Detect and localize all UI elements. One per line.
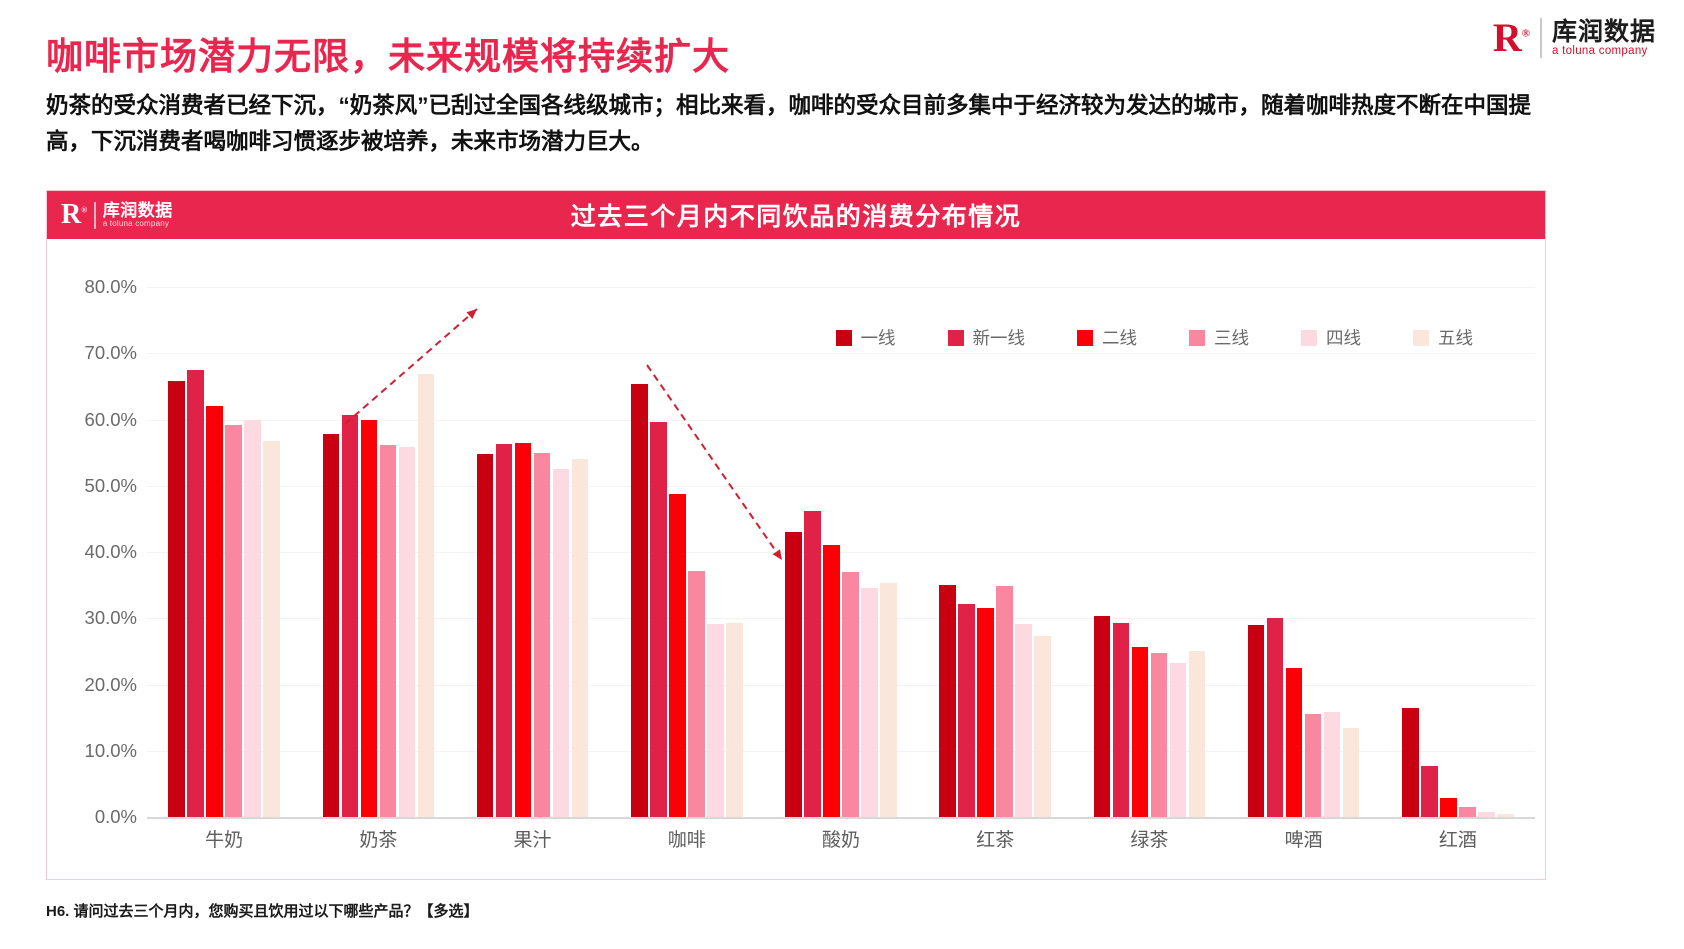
bar[interactable]: [823, 545, 840, 817]
bar[interactable]: [1248, 625, 1265, 817]
x-axis-label: 酸奶: [764, 825, 918, 852]
bar-group-红茶: [918, 287, 1072, 817]
bar[interactable]: [1151, 653, 1168, 817]
bar[interactable]: [669, 494, 686, 817]
y-axis: 80.0%70.0%60.0%50.0%40.0%30.0%20.0%10.0%…: [47, 287, 147, 817]
bar[interactable]: [1497, 814, 1514, 817]
x-axis-label: 牛奶: [147, 825, 301, 852]
bar-group-啤酒: [1227, 287, 1381, 817]
bar[interactable]: [1170, 663, 1187, 817]
bar[interactable]: [842, 572, 859, 817]
bar-group-奶茶: [301, 287, 455, 817]
x-axis-label: 绿茶: [1072, 825, 1226, 852]
y-axis-tick: 60.0%: [85, 409, 137, 431]
x-axis-label: 啤酒: [1227, 825, 1381, 852]
bar[interactable]: [977, 608, 994, 817]
bar-group-绿茶: [1072, 287, 1226, 817]
bar[interactable]: [361, 420, 378, 817]
bar[interactable]: [1478, 812, 1495, 817]
y-axis-tick: 50.0%: [85, 475, 137, 497]
chart-header: R® 库润数据 a toluna company 过去三个月内不同饮品的消费分布…: [47, 191, 1545, 239]
x-axis-baseline: [147, 817, 1535, 819]
chart-title: 过去三个月内不同饮品的消费分布情况: [47, 197, 1545, 233]
x-axis-label: 红茶: [918, 825, 1072, 852]
bar[interactable]: [187, 370, 204, 817]
bar-group-红酒: [1381, 287, 1535, 817]
bar[interactable]: [1324, 712, 1341, 817]
bar[interactable]: [515, 443, 532, 817]
bar[interactable]: [1189, 651, 1206, 817]
bar[interactable]: [1402, 708, 1419, 817]
bar[interactable]: [225, 425, 242, 817]
x-axis-label: 果汁: [455, 825, 609, 852]
bar[interactable]: [1113, 623, 1130, 817]
bar[interactable]: [804, 511, 821, 817]
slide: 咖啡市场潜力无限，未来规模将持续扩大 R® 库润数据 a toluna comp…: [0, 0, 1684, 949]
bar[interactable]: [1286, 668, 1303, 817]
bar[interactable]: [726, 623, 743, 817]
bar[interactable]: [1015, 624, 1032, 817]
bar[interactable]: [168, 381, 185, 817]
bar[interactable]: [244, 420, 261, 818]
bar[interactable]: [477, 454, 494, 817]
bar[interactable]: [861, 588, 878, 817]
bar[interactable]: [707, 624, 724, 817]
bar-group-酸奶: [764, 287, 918, 817]
bar[interactable]: [418, 374, 435, 817]
bar[interactable]: [572, 459, 589, 817]
bar[interactable]: [1459, 807, 1476, 817]
bar[interactable]: [958, 604, 975, 817]
brand-logo: R® 库润数据 a toluna company: [1493, 18, 1656, 58]
x-axis-label: 奶茶: [301, 825, 455, 852]
bar[interactable]: [688, 571, 705, 817]
bar[interactable]: [1440, 798, 1457, 817]
x-axis-label: 咖啡: [610, 825, 764, 852]
bar[interactable]: [496, 444, 513, 817]
bar-group-牛奶: [147, 287, 301, 817]
bar[interactable]: [785, 532, 802, 817]
y-axis-tick: 0.0%: [95, 806, 137, 828]
bar[interactable]: [1343, 728, 1360, 817]
bar[interactable]: [342, 415, 359, 817]
bar[interactable]: [1267, 618, 1284, 817]
bar[interactable]: [263, 441, 280, 817]
bar[interactable]: [1034, 636, 1051, 817]
footnote: H6. 请问过去三个月内，您购买且饮用过以下哪些产品？【多选】: [46, 900, 479, 921]
x-axis-labels: 牛奶奶茶果汁咖啡酸奶红茶绿茶啤酒红酒: [147, 825, 1535, 852]
page-subtitle: 奶茶的受众消费者已经下沉，“奶茶风”已刮过全国各线级城市；相比来看，咖啡的受众目…: [46, 88, 1542, 159]
bar-group-果汁: [455, 287, 609, 817]
y-axis-tick: 70.0%: [85, 342, 137, 364]
bar[interactable]: [650, 422, 667, 818]
bar[interactable]: [1305, 714, 1322, 817]
bar[interactable]: [534, 453, 551, 817]
y-axis-tick: 30.0%: [85, 607, 137, 629]
y-axis-tick: 40.0%: [85, 541, 137, 563]
bar[interactable]: [1421, 766, 1438, 817]
bar[interactable]: [880, 583, 897, 817]
bar[interactable]: [1132, 647, 1149, 817]
brand-logo-mark: R®: [1493, 18, 1530, 58]
y-axis-tick: 20.0%: [85, 674, 137, 696]
brand-divider: [1540, 18, 1542, 58]
bar[interactable]: [380, 445, 397, 817]
plot-area: [147, 287, 1535, 817]
chart-card: R® 库润数据 a toluna company 过去三个月内不同饮品的消费分布…: [46, 190, 1546, 880]
plot-wrapper: 一线新一线二线三线四线五线 80.0%70.0%60.0%50.0%40.0%3…: [47, 239, 1545, 881]
brand-text: 库润数据 a toluna company: [1552, 19, 1656, 57]
bar[interactable]: [631, 384, 648, 817]
brand-name-cn: 库润数据: [1552, 19, 1656, 45]
bar[interactable]: [206, 406, 223, 817]
page-title: 咖啡市场潜力无限，未来规模将持续扩大: [46, 26, 730, 80]
x-axis-label: 红酒: [1381, 825, 1535, 852]
y-axis-tick: 80.0%: [85, 276, 137, 298]
brand-name-en: a toluna company: [1552, 45, 1656, 57]
y-axis-tick: 10.0%: [85, 740, 137, 762]
bar[interactable]: [1094, 616, 1111, 817]
bar-group-咖啡: [610, 287, 764, 817]
bar[interactable]: [399, 447, 416, 817]
bar[interactable]: [553, 469, 570, 817]
bar[interactable]: [323, 434, 340, 817]
bar[interactable]: [939, 585, 956, 817]
bar[interactable]: [996, 586, 1013, 817]
